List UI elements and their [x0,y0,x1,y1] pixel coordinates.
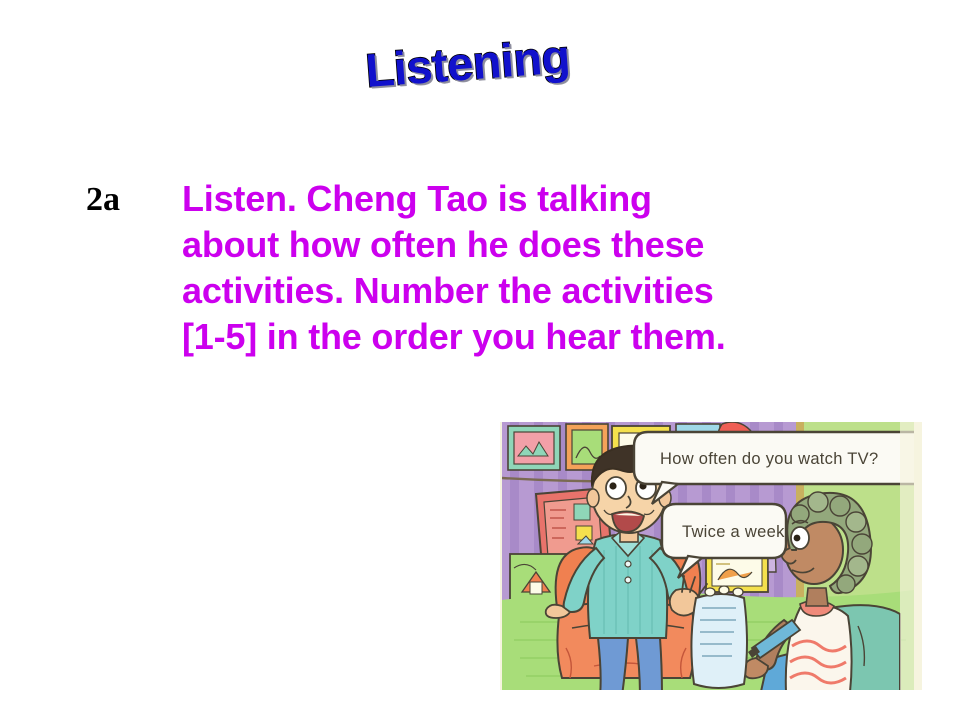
instruction-line-4: [1-5] in the order you hear them. [182,314,942,360]
instruction-line-1: Listen. Cheng Tao is talking [182,176,942,222]
speech-bubble-answer-text: Twice a week. [682,523,790,541]
illustration-right-margin [900,422,922,700]
exercise-instruction: Listen. Cheng Tao is talking about how o… [182,176,942,360]
speech-bubble-question-text: How often do you watch TV? [660,450,878,468]
illustration-scene: How often do you watch TV? Twice a week. [502,422,922,696]
illustration-svg: How often do you watch TV? Twice a week. [500,422,922,700]
instruction-line-2: about how often he does these [182,222,942,268]
slide-title-wordart: Listening [364,27,598,106]
illustration-bottom-margin [500,690,922,700]
page-title: Listening [364,27,597,98]
framed-picture-1 [508,426,560,470]
clipboard [691,586,747,688]
exercise-number: 2a [86,182,120,218]
instruction-line-3: activities. Number the activities [182,268,942,314]
illustration-image: How often do you watch TV? Twice a week. [500,422,922,700]
slide-canvas: Listening 2a Listen. Cheng Tao is talkin… [0,0,960,720]
